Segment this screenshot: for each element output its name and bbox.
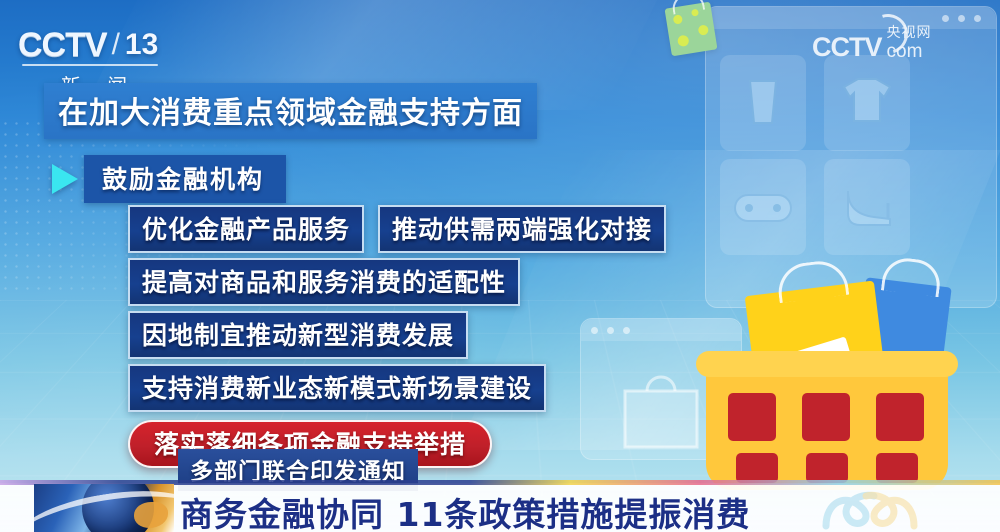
logo-underline	[22, 64, 158, 66]
logo-channel-number: 13	[125, 28, 158, 62]
window-dot	[958, 15, 965, 22]
product-tile-heel	[824, 159, 910, 255]
subheading-label: 鼓励金融机构	[84, 155, 286, 203]
subheading-group: 鼓励金融机构	[52, 155, 286, 203]
basket-slot	[728, 393, 776, 441]
list-item: 支持消费新业态新模式新场景建设	[128, 364, 546, 412]
policy-item-list: 优化金融产品服务 推动供需两端强化对接 提高对商品和服务消费的适配性 因地制宜推…	[128, 205, 666, 473]
list-row: 支持消费新业态新模式新场景建设	[128, 364, 666, 412]
list-row: 提高对商品和服务消费的适配性	[128, 258, 666, 306]
logo-slash: /	[112, 28, 120, 62]
bag-handle	[671, 0, 705, 15]
product-tile-cup	[720, 55, 806, 151]
shirt-icon	[838, 77, 896, 125]
logo-cctv-text: CCTV	[18, 28, 107, 62]
basket-slot	[876, 453, 918, 483]
basket-slot	[736, 453, 778, 483]
page-title: 在加大消费重点领域金融支持方面	[44, 83, 537, 139]
bag-dot	[691, 9, 699, 17]
basket-slot	[802, 393, 850, 441]
game-controller-icon	[732, 187, 794, 227]
cctv-com-watermark: CCTV 央视网 com	[812, 26, 932, 61]
list-row: 因地制宜推动新型消费发展	[128, 311, 666, 359]
triangle-arrow-icon	[52, 164, 78, 194]
ribbon-decoration	[810, 486, 930, 530]
list-item: 推动供需两端强化对接	[378, 205, 666, 253]
list-item: 优化金融产品服务	[128, 205, 364, 253]
bag-dot	[677, 35, 690, 48]
bag-dot	[673, 14, 683, 24]
product-tile-controller	[720, 159, 806, 255]
broadcast-screen: CCTV / 13 新 闻 CCTV 央视网 com 在加大消费重点领域金融支持…	[0, 0, 1000, 532]
list-item: 提高对商品和服务消费的适配性	[128, 258, 520, 306]
high-heel-icon	[840, 185, 896, 231]
bottom-headline-text: 商务金融协同 11条政策措施提振消费	[180, 488, 750, 532]
list-row: 优化金融产品服务 推动供需两端强化对接	[128, 205, 666, 253]
globe-swoosh-graphic	[34, 484, 174, 532]
window-dot	[942, 15, 949, 22]
basket-slot	[806, 453, 848, 483]
product-tile-shirt	[824, 55, 910, 151]
yellow-shopping-basket	[706, 365, 948, 490]
window-dot	[974, 15, 981, 22]
cup-icon	[746, 77, 780, 127]
basket-rim	[696, 351, 958, 377]
basket-slot	[876, 393, 924, 441]
list-item: 因地制宜推动新型消费发展	[128, 311, 468, 359]
green-gift-bag	[665, 2, 718, 57]
bag-dot	[698, 24, 709, 35]
